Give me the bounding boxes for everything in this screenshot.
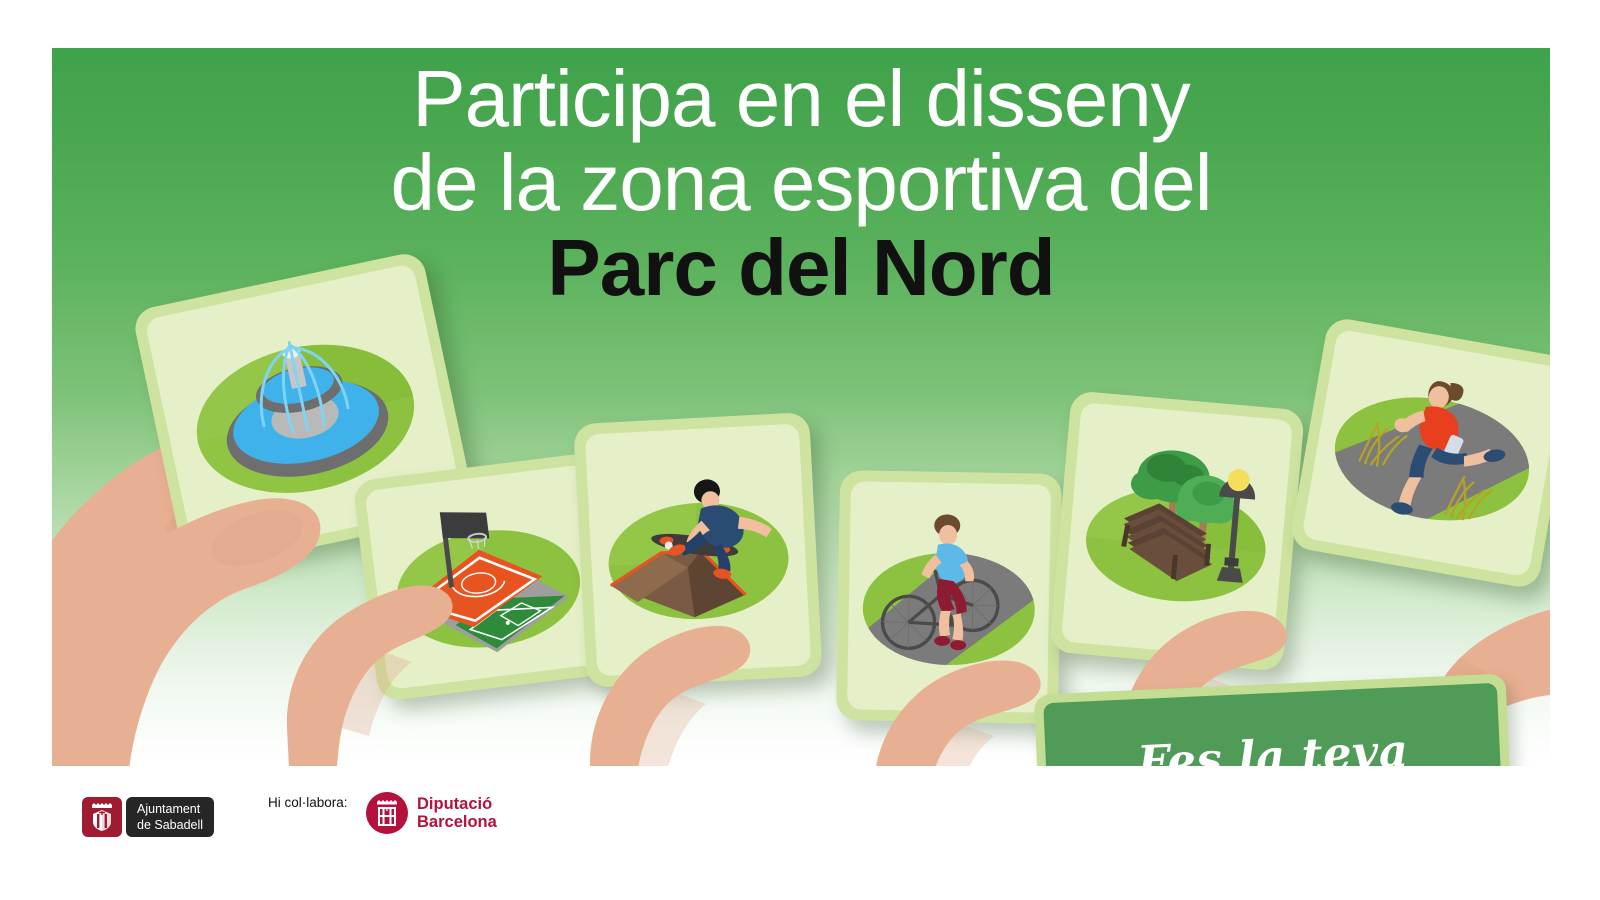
logo-ajuntament-sabadell: Ajuntament de Sabadell [82, 797, 214, 837]
logo-diputacio-barcelona: Diputació Barcelona [366, 792, 497, 834]
sabadell-shield-icon [82, 797, 122, 837]
collaborate-label: Hi col·labora: [268, 795, 348, 810]
banner-background [52, 48, 1550, 766]
diputacio-line-1: Diputació [417, 795, 497, 813]
sabadell-text-box: Ajuntament de Sabadell [126, 797, 214, 837]
diputacio-seal-icon [366, 792, 408, 834]
footer-logos: Ajuntament de Sabadell Hi col·labora: Di… [0, 766, 1600, 900]
sabadell-line-1: Ajuntament [137, 801, 203, 817]
hand-two [237, 498, 537, 766]
diputacio-text: Diputació Barcelona [417, 795, 497, 832]
shield-crown-icon [89, 802, 115, 832]
diputacio-crest-icon [373, 798, 401, 828]
poster-root: Participa en el disseny de la zona espor… [0, 0, 1600, 900]
sabadell-line-2: de Sabadell [137, 817, 203, 833]
hand-three [532, 518, 832, 766]
diputacio-line-2: Barcelona [417, 813, 497, 831]
